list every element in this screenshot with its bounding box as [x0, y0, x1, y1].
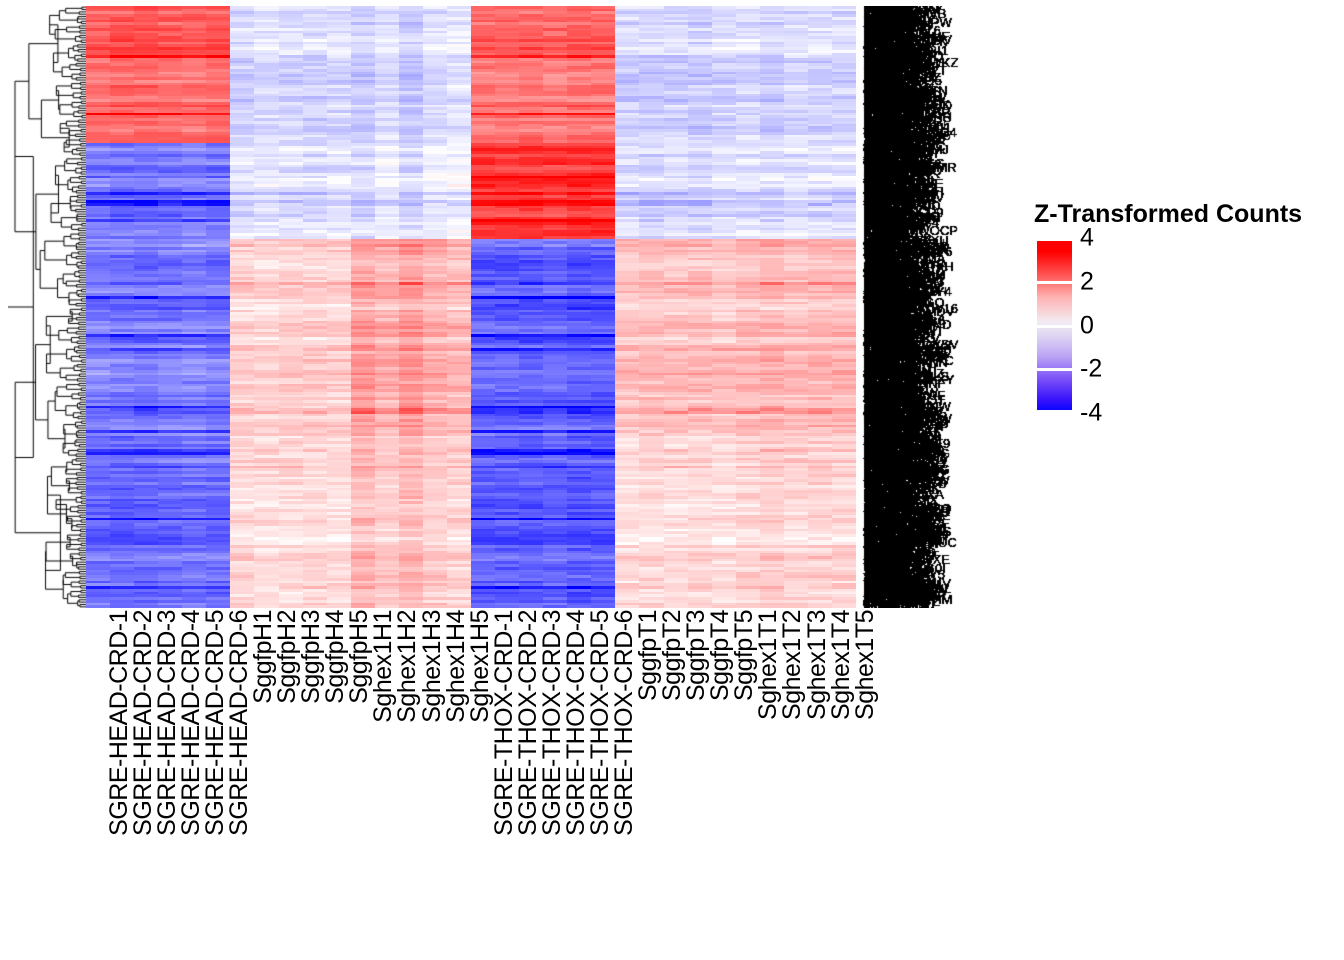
legend-tick-label: 2 — [1080, 269, 1094, 294]
row-labels-block — [860, 6, 1016, 608]
legend-tick-mark — [1037, 410, 1072, 413]
legend-title: Z-Transformed Counts — [1034, 200, 1334, 229]
legend-body: 420-2-4 — [1034, 235, 1264, 420]
legend-tick-mark — [1037, 281, 1072, 284]
heatmap-figure: SGRE-HEAD-CRD-1SGRE-HEAD-CRD-2SGRE-HEAD-… — [0, 0, 1344, 960]
column-label: Sghex1H4 — [444, 610, 469, 723]
legend-tick-mark — [1037, 368, 1072, 371]
column-label: Sghex1H5 — [468, 610, 493, 723]
column-label: Sghex1T2 — [780, 610, 805, 720]
column-label: SGRE-THOX-CRD-2 — [516, 610, 541, 836]
column-label: Sghex1T5 — [853, 610, 878, 720]
heatmap-matrix[interactable] — [86, 6, 856, 608]
legend-tick-label: 0 — [1080, 313, 1094, 338]
legend: Z-Transformed Counts 420-2-4 — [1034, 200, 1334, 420]
legend-tick-label: -2 — [1080, 357, 1102, 382]
row-dendrogram — [8, 6, 86, 608]
legend-tick-mark — [1037, 238, 1072, 241]
legend-tick-label: -4 — [1080, 401, 1102, 426]
column-label: Sghex1T3 — [805, 610, 830, 720]
legend-tick-label: 4 — [1080, 226, 1094, 251]
column-label: Sghex1H2 — [395, 610, 420, 723]
column-label: SGRE-THOX-CRD-1 — [492, 610, 517, 836]
column-labels: SGRE-HEAD-CRD-1SGRE-HEAD-CRD-2SGRE-HEAD-… — [86, 610, 856, 940]
column-label: SGRE-HEAD-CRD-2 — [131, 610, 156, 836]
column-label: SGRE-HEAD-CRD-1 — [107, 610, 132, 836]
legend-tick-mark — [1037, 325, 1072, 328]
column-label: Sghex1H3 — [420, 610, 445, 723]
column-label: Sghex1T4 — [829, 610, 854, 720]
